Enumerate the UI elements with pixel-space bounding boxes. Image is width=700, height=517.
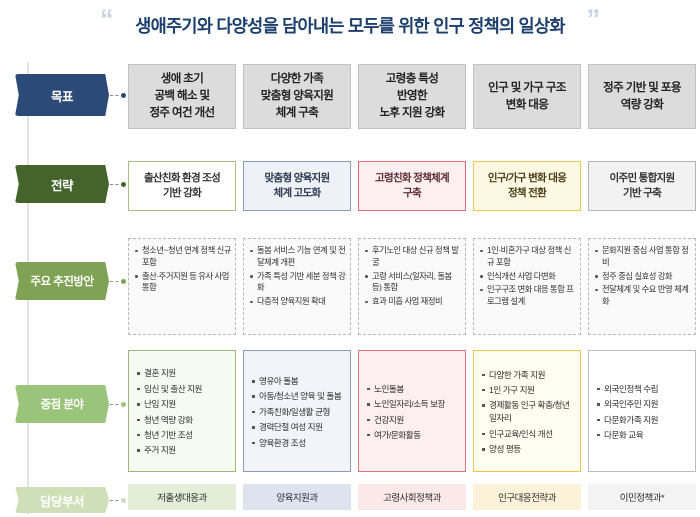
focus-item: 결혼 지원: [135, 367, 202, 380]
connector-dot: [121, 279, 126, 284]
plan-item: 인구구조 변화 대응 통합 프로그램 설계: [478, 284, 576, 308]
connector-dot: [121, 93, 126, 98]
focus-item: 경제활동 인구 확충/청년 일자리: [480, 399, 576, 425]
focus-item: 난임 지원: [135, 398, 202, 411]
focus-item: 임신 및 출산 지원: [135, 383, 202, 396]
goal-box[interactable]: 정주 기반 및 포용역량 강화: [588, 64, 696, 129]
focus-item: 인구교육/인식 개선: [480, 428, 576, 441]
strategy-box[interactable]: 이주민 통합지원기반 구축: [588, 161, 696, 211]
focus-item: 외국인정책 수립: [595, 383, 658, 396]
strategy-text: 이주민 통합지원기반 구축: [610, 171, 675, 201]
focus-list: 결혼 지원임신 및 출산 지원난임 지원청년 역량 강화청년 기반 조성주거 지…: [135, 367, 202, 459]
plan-box[interactable]: 후기노인 대상 신규 정책 발굴고령 서비스(일자리, 돌봄 등) 통합효과 미…: [358, 238, 466, 335]
goal-box[interactable]: 생애 초기공백 해소 및정주 여건 개선: [128, 64, 236, 129]
page-header: “ 생애주기와 다양성을 담아내는 모두를 위한 인구 정책의 일상화 ”: [0, 0, 700, 58]
plan-item: 다층적 양육지원 확대: [248, 296, 346, 308]
goal-text: 고령층 특성반영한노후 지원 강화: [379, 71, 444, 121]
focus-box[interactable]: 외국인정책 수립외국인주민 지원다문화가족 지원다문화 교육: [588, 350, 696, 472]
row-label-text: 중점 분야: [40, 396, 83, 412]
focus-box[interactable]: 영유아 돌봄아동/청소년 양육 및 돌봄가족친화/일생활 균형경력단절 여성 지…: [243, 350, 351, 472]
goal-box[interactable]: 고령층 특성반영한노후 지원 강화: [358, 64, 466, 129]
strategy-box[interactable]: 인구/가구 변화 대응정책 전환: [473, 161, 581, 211]
row-label-strategies[interactable]: 전략: [15, 165, 109, 203]
department-box[interactable]: 양육지원과: [243, 484, 351, 510]
focus-item: 경력단절 여성 지원: [250, 421, 341, 434]
plan-item: 문화지원 중심 사업 통합 정비: [593, 245, 691, 269]
goal-box[interactable]: 인구 및 가구 구조변화 대응: [473, 64, 581, 129]
plan-item: 정주 중심 실효성 강화: [593, 271, 691, 283]
plan-list: 1인·비혼가구 대상 정책 신규 포함인식개선 사업 다변화인구구조 변화 대응…: [478, 245, 576, 308]
focus-item: 주거 지원: [135, 444, 202, 457]
strategy-box[interactable]: 고령친화 정책체계구축: [358, 161, 466, 211]
focus-item: 1인 가구 지원: [480, 384, 576, 397]
department-box[interactable]: 저출생대응과: [128, 484, 236, 510]
focus-item: 가족친화/일생활 균형: [250, 406, 341, 419]
plan-box[interactable]: 돌봄 서비스 기능 연계 및 전달체계 개편가족 특성 기반 세분 정책 강화다…: [243, 238, 351, 335]
row-label-text: 전략: [51, 175, 73, 194]
goal-text: 생애 초기공백 해소 및정주 여건 개선: [149, 71, 214, 121]
strategy-box[interactable]: 출산친화 환경 조성기반 강화: [128, 161, 236, 211]
department-box[interactable]: 고령사회정책과: [358, 484, 466, 510]
department-text: 고령사회정책과: [383, 490, 441, 504]
strategy-text: 고령친화 정책체계구축: [375, 171, 449, 201]
focus-box[interactable]: 다양한 가족 지원1인 가구 지원경제활동 인구 확충/청년 일자리인구교육/인…: [473, 350, 581, 472]
plan-item: 효과 미흡 사업 재정비: [363, 296, 461, 308]
plan-item: 출산·주거지원 등 유사 사업 통합: [133, 271, 231, 295]
row-label-departments[interactable]: 담당부서: [15, 487, 109, 513]
focus-item: 다문화가족 지원: [595, 414, 658, 427]
focus-item: 청년 역량 강화: [135, 414, 202, 427]
plan-item: 청소년~청년 연계 정책 신규 포함: [133, 245, 231, 269]
plan-item: 인식개선 사업 다변화: [478, 271, 576, 283]
row-label-text: 주요 추진방안: [30, 273, 93, 289]
department-text: 양육지원과: [276, 490, 317, 504]
plan-item: 1인·비혼가구 대상 정책 신규 포함: [478, 245, 576, 269]
focus-item: 여가/문화활동: [365, 429, 445, 442]
goal-box[interactable]: 다양한 가족맞춤형 양육지원체계 구축: [243, 64, 351, 129]
focus-item: 영유아 돌봄: [250, 375, 341, 388]
focus-item: 양육환경 조성: [250, 437, 341, 450]
strategy-box[interactable]: 맞춤형 양육지원체계 고도화: [243, 161, 351, 211]
goal-text: 다양한 가족맞춤형 양육지원체계 구축: [261, 71, 333, 121]
focus-list: 외국인정책 수립외국인주민 지원다문화가족 지원다문화 교육: [595, 383, 658, 445]
plan-list: 돌봄 서비스 기능 연계 및 전달체계 개편가족 특성 기반 세분 정책 강화다…: [248, 245, 346, 308]
focus-list: 영유아 돌봄아동/청소년 양육 및 돌봄가족친화/일생활 균형경력단절 여성 지…: [250, 375, 341, 452]
plan-box[interactable]: 청소년~청년 연계 정책 신규 포함출산·주거지원 등 유사 사업 통합: [128, 238, 236, 335]
row-label-plans[interactable]: 주요 추진방안: [15, 262, 109, 300]
row-label-focus-areas[interactable]: 중점 분야: [15, 385, 109, 423]
plan-box[interactable]: 1인·비혼가구 대상 정책 신규 포함인식개선 사업 다변화인구구조 변화 대응…: [473, 238, 581, 335]
strategy-text: 맞춤형 양육지원체계 고도화: [265, 171, 330, 201]
plan-item: 전달체계 및 수요 반영 체계화: [593, 284, 691, 308]
plan-list: 문화지원 중심 사업 통합 정비정주 중심 실효성 강화전달체계 및 수요 반영…: [593, 245, 691, 308]
focus-item: 노인일자리/소득 보장: [365, 398, 445, 411]
strategy-text: 출산친화 환경 조성기반 강화: [144, 171, 220, 201]
department-text: 저출생대응과: [157, 490, 206, 504]
plan-item: 돌봄 서비스 기능 연계 및 전달체계 개편: [248, 245, 346, 269]
connector-dot: [121, 402, 126, 407]
focus-item: 외국인주민 지원: [595, 398, 658, 411]
department-box[interactable]: 인구대응전략과: [473, 484, 581, 510]
plan-item: 후기노인 대상 신규 정책 발굴: [363, 245, 461, 269]
plan-list: 청소년~청년 연계 정책 신규 포함출산·주거지원 등 유사 사업 통합: [133, 245, 231, 294]
department-box[interactable]: 이민정책과*: [588, 484, 696, 510]
focus-list: 다양한 가족 지원1인 가구 지원경제활동 인구 확충/청년 일자리인구교육/인…: [480, 369, 576, 459]
row-label-goals[interactable]: 목표: [15, 74, 109, 116]
strategy-text: 인구/가구 변화 대응정책 전환: [488, 171, 566, 201]
plan-box[interactable]: 문화지원 중심 사업 통합 정비정주 중심 실효성 강화전달체계 및 수요 반영…: [588, 238, 696, 335]
row-label-text: 담당부서: [40, 491, 84, 510]
focus-item: 다문화 교육: [595, 429, 658, 442]
plan-item: 고령 서비스(일자리, 돌봄 등) 통합: [363, 271, 461, 295]
connector-dot: [121, 498, 126, 503]
focus-box[interactable]: 노인돌봄노인일자리/소득 보장건강지원여가/문화활동: [358, 350, 466, 472]
focus-item: 노인돌봄: [365, 383, 445, 396]
focus-item: 건강지원: [365, 414, 445, 427]
focus-item: 다양한 가족 지원: [480, 369, 576, 382]
plan-list: 후기노인 대상 신규 정책 발굴고령 서비스(일자리, 돌봄 등) 통합효과 미…: [363, 245, 461, 308]
goal-text: 인구 및 가구 구조변화 대응: [488, 80, 566, 113]
goal-text: 정주 기반 및 포용역량 강화: [603, 80, 681, 113]
focus-list: 노인돌봄노인일자리/소득 보장건강지원여가/문화활동: [365, 383, 445, 445]
department-text: 인구대응전략과: [498, 490, 556, 504]
department-text: 이민정책과*: [620, 490, 664, 504]
quote-close-icon: ”: [587, 6, 601, 33]
focus-box[interactable]: 결혼 지원임신 및 출산 지원난임 지원청년 역량 강화청년 기반 조성주거 지…: [128, 350, 236, 472]
focus-item: 아동/청소년 양육 및 돌봄: [250, 390, 341, 403]
plan-item: 가족 특성 기반 세분 정책 강화: [248, 271, 346, 295]
focus-item: 청년 기반 조성: [135, 429, 202, 442]
connector-dot: [121, 182, 126, 187]
row-label-text: 목표: [51, 86, 73, 105]
focus-item: 양성 평등: [480, 443, 576, 456]
